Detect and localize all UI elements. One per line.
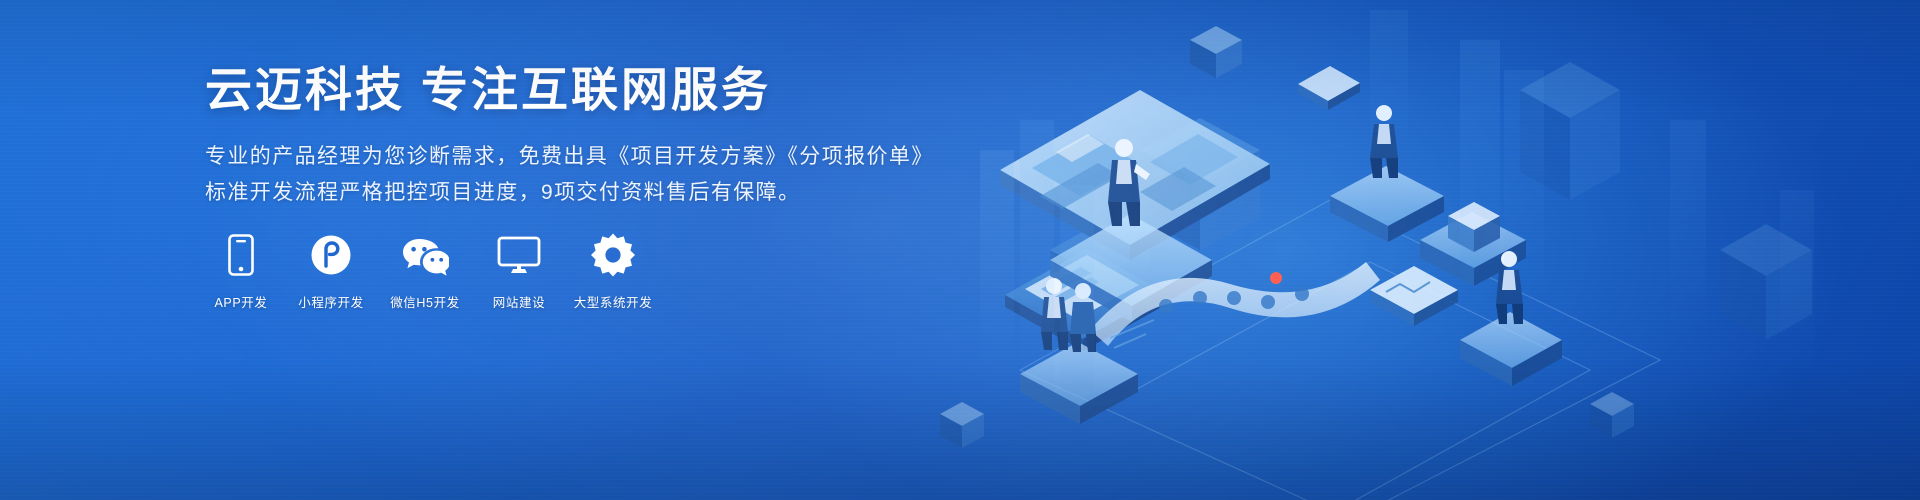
hero-content: 云迈科技 专注互联网服务 专业的产品经理为您诊断需求，免费出具《项目开发方案》《… xyxy=(205,62,965,211)
wechat-icon xyxy=(401,232,449,278)
service-item-mini-program[interactable]: 小程序开发 xyxy=(295,232,367,311)
subtitle-line-2: 标准开发流程严格把控项目进度，9项交付资料售后有保障。 xyxy=(205,175,965,211)
mobile-phone-icon xyxy=(228,232,254,278)
service-item-large-system[interactable]: 大型系统开发 xyxy=(577,232,649,311)
deco-bar xyxy=(980,150,1014,380)
deco-bar xyxy=(1020,120,1054,390)
service-label: 小程序开发 xyxy=(298,292,364,311)
mini-program-icon xyxy=(310,232,352,278)
illustration-isometric-tech xyxy=(900,0,1920,500)
accent-cube xyxy=(940,402,984,448)
accent-cube xyxy=(1590,392,1634,438)
subtitle-line-1: 专业的产品经理为您诊断需求，免费出具《项目开发方案》《分项报价单》 xyxy=(205,139,965,175)
deco-bar xyxy=(1504,70,1544,300)
deco-bar xyxy=(1780,190,1814,370)
page-title: 云迈科技 专注互联网服务 xyxy=(205,62,965,117)
platform-right-upper xyxy=(1330,166,1444,242)
service-label: 大型系统开发 xyxy=(574,292,653,311)
platform-right-lower xyxy=(1460,312,1562,386)
service-item-app[interactable]: APP开发 xyxy=(205,232,277,311)
deco-bar xyxy=(1370,10,1408,160)
hero-banner: 云迈科技 专注互联网服务 专业的产品经理为您诊断需求，免费出具《项目开发方案》《… xyxy=(0,0,1920,500)
service-item-wechat-h5[interactable]: 微信H5开发 xyxy=(389,232,461,311)
deco-bar xyxy=(1460,40,1500,290)
deco-bar xyxy=(1060,185,1094,390)
gear-icon xyxy=(591,232,635,278)
service-label: 网站建设 xyxy=(493,292,545,311)
service-label: 微信H5开发 xyxy=(390,292,460,311)
deco-bar xyxy=(1670,120,1706,330)
service-item-website[interactable]: 网站建设 xyxy=(483,232,555,311)
service-list: APP开发 小程序开发 微信 xyxy=(205,232,667,311)
monitor-icon xyxy=(497,232,541,278)
hero-subtitle: 专业的产品经理为您诊断需求，免费出具《项目开发方案》《分项报价单》 标准开发流程… xyxy=(205,139,965,211)
floating-chart-panel xyxy=(1370,266,1458,326)
service-label: APP开发 xyxy=(214,292,267,311)
accent-cube xyxy=(1190,26,1242,78)
floating-card xyxy=(1298,66,1360,110)
